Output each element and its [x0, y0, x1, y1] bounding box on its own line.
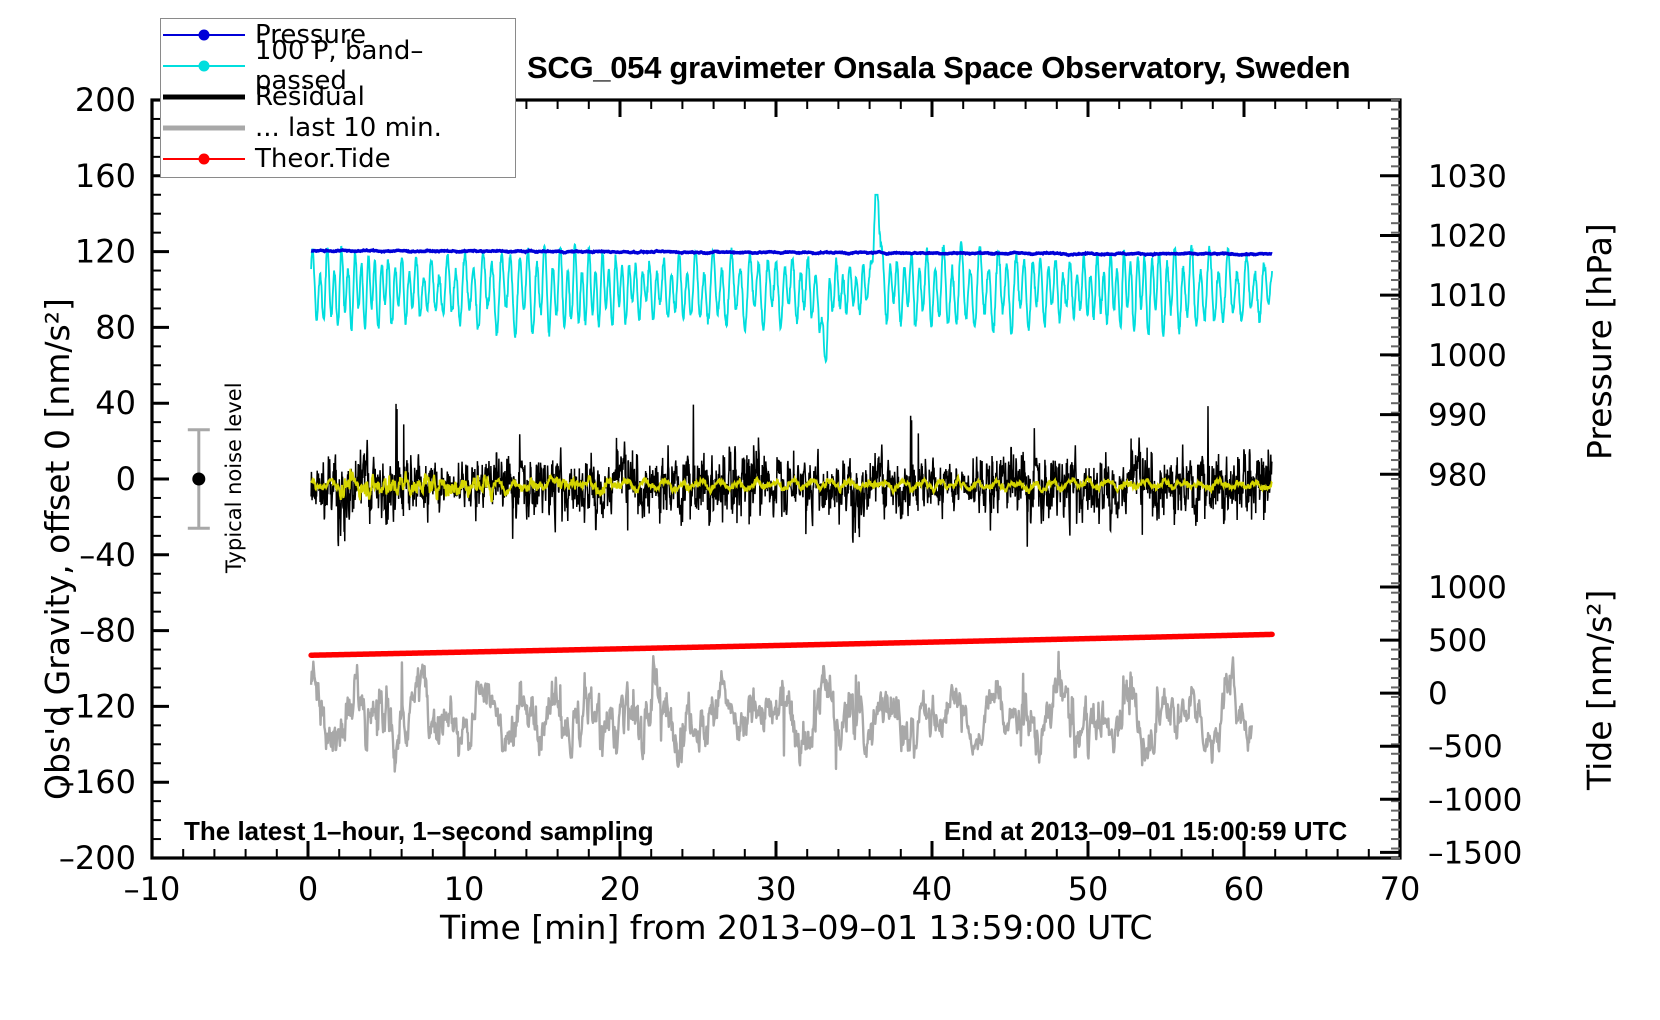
- y-tick-label-left: –80: [79, 612, 136, 650]
- y-tick-label-tide: –1000: [1428, 782, 1522, 818]
- y-tick-label-left: 200: [75, 81, 136, 119]
- y-tick-label-tide: –500: [1428, 729, 1503, 765]
- axes-frame: –1001020304050607020016012080400–40–80–1…: [59, 81, 1522, 908]
- legend-swatch-3: [161, 112, 247, 143]
- legend-marker-icon: [199, 29, 210, 40]
- legend-label-4: Theor.Tide: [255, 144, 391, 174]
- x-axis-title: Time [min] from 2013–09–01 13:59:00 UTC: [440, 908, 1153, 947]
- legend-marker-icon: [199, 153, 210, 164]
- y-tick-label-pressure: 1030: [1428, 159, 1507, 195]
- y-tick-label-left: 120: [75, 233, 136, 271]
- legend-item-3[interactable]: ... last 10 min.: [161, 112, 515, 143]
- y-tick-label-tide: –1500: [1428, 835, 1522, 871]
- legend-label-2: Residual: [255, 82, 365, 112]
- y-tick-label-tide: 500: [1428, 623, 1487, 659]
- legend-swatch-2: [161, 81, 247, 112]
- y-tick-label-left: –200: [59, 839, 136, 877]
- y-axis-left-title: Obs'd Gravity, offset 0 [nm/s²]: [38, 298, 77, 800]
- series-last-10-min: [311, 652, 1252, 772]
- series-band-passed-pressure: [311, 195, 1272, 362]
- series-residual: [311, 404, 1272, 547]
- x-tick-label: 20: [600, 870, 641, 908]
- x-tick-label: 10: [444, 870, 485, 908]
- series-pressure: [311, 250, 1272, 255]
- legend: Pressure100 P, band–passedResidual... la…: [160, 18, 516, 178]
- y-tick-label-left: 40: [95, 384, 136, 422]
- typical-noise-level-marker: [188, 430, 210, 529]
- y-tick-label-left: 160: [75, 157, 136, 195]
- y-axis-pressure-title: Pressure [hPa]: [1580, 223, 1619, 460]
- legend-swatch-4: [161, 143, 247, 174]
- y-tick-label-pressure: 1000: [1428, 338, 1507, 374]
- legend-line-icon: [163, 125, 245, 130]
- y-tick-label-pressure: 1020: [1428, 218, 1507, 254]
- y-tick-label-pressure: 990: [1428, 398, 1487, 434]
- y-tick-label-tide: 0: [1428, 676, 1448, 712]
- x-tick-label: 0: [298, 870, 318, 908]
- x-tick-label: 40: [912, 870, 953, 908]
- legend-item-4[interactable]: Theor.Tide: [161, 143, 515, 174]
- y-tick-label-pressure: 1010: [1428, 278, 1507, 314]
- y-tick-label-pressure: 980: [1428, 457, 1487, 493]
- legend-swatch-0: [161, 19, 247, 50]
- y-tick-label-left: –40: [79, 536, 136, 574]
- y-tick-label-tide: 1000: [1428, 570, 1507, 606]
- y-tick-label-left: 0: [116, 460, 136, 498]
- x-tick-label: 30: [756, 870, 797, 908]
- x-tick-label: 50: [1068, 870, 1109, 908]
- latest-sampling-annotation: The latest 1–hour, 1–second sampling: [184, 816, 654, 847]
- series-group: [311, 195, 1272, 772]
- x-tick-label: 60: [1224, 870, 1265, 908]
- legend-swatch-1: [161, 50, 247, 81]
- y-axis-tide-title: Tide [nm/s²]: [1580, 590, 1619, 790]
- legend-marker-icon: [198, 60, 209, 71]
- legend-line-icon: [163, 94, 245, 99]
- end-time-annotation: End at 2013–09–01 15:00:59 UTC: [944, 816, 1347, 847]
- legend-label-3: ... last 10 min.: [255, 113, 442, 143]
- typical-noise-level-label: Typical noise level: [222, 382, 246, 573]
- x-tick-label: 70: [1380, 870, 1421, 908]
- legend-item-1[interactable]: 100 P, band–passed: [161, 50, 515, 81]
- series-theoretical-tide: [311, 634, 1272, 655]
- figure-root: –1001020304050607020016012080400–40–80–1…: [0, 0, 1660, 1020]
- y-tick-label-left: 80: [95, 308, 136, 346]
- chart-title: SCG_054 gravimeter Onsala Space Observat…: [527, 50, 1350, 86]
